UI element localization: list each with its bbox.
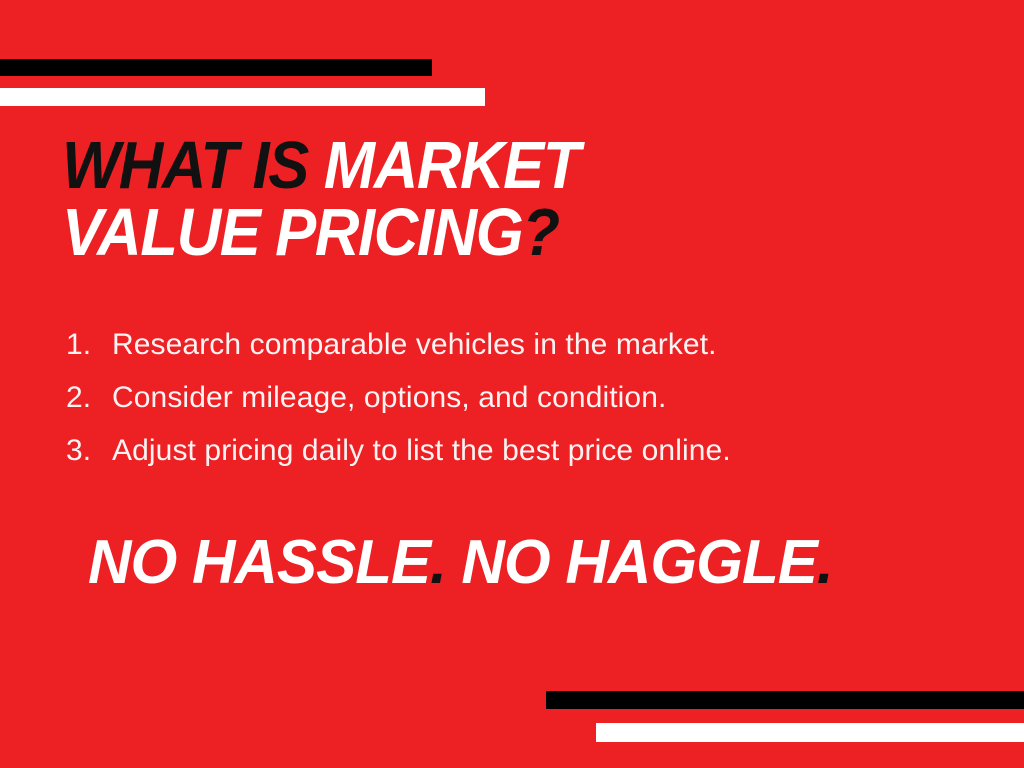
page-title: WHAT IS MARKET VALUE PRICING?: [62, 136, 762, 263]
headline-market: MARKET: [324, 128, 579, 203]
headline-question-mark: ?: [522, 195, 558, 270]
step-number: 2.: [66, 371, 112, 424]
headline-line-2: VALUE PRICING?: [62, 203, 706, 263]
slide-canvas: WHAT IS MARKET VALUE PRICING? 1. Researc…: [0, 0, 1024, 768]
step-number: 1.: [66, 318, 112, 371]
tagline-no-hassle: NO HASSLE: [88, 528, 430, 597]
step-text: Consider mileage, options, and condition…: [112, 371, 666, 424]
list-item: 3. Adjust pricing daily to list the best…: [66, 424, 966, 477]
bottom-black-rule: [546, 691, 1024, 709]
tagline-no-haggle: NO HAGGLE: [461, 528, 816, 597]
steps-list: 1. Research comparable vehicles in the m…: [66, 318, 966, 477]
top-black-rule: [0, 59, 432, 76]
headline-value-pricing: VALUE PRICING: [62, 195, 522, 270]
top-white-rule: [0, 88, 485, 106]
step-text: Research comparable vehicles in the mark…: [112, 318, 717, 371]
tagline: NO HASSLE.NO HAGGLE.: [88, 528, 833, 598]
bottom-white-rule: [596, 723, 1024, 742]
list-item: 1. Research comparable vehicles in the m…: [66, 318, 966, 371]
tagline-dot-2: .: [817, 528, 833, 597]
tagline-dot-1: .: [430, 528, 446, 597]
headline-line-1: WHAT IS MARKET: [62, 136, 706, 196]
list-item: 2. Consider mileage, options, and condit…: [66, 371, 966, 424]
headline-what-is: WHAT IS: [62, 128, 324, 203]
step-text: Adjust pricing daily to list the best pr…: [112, 424, 731, 477]
step-number: 3.: [66, 424, 112, 477]
